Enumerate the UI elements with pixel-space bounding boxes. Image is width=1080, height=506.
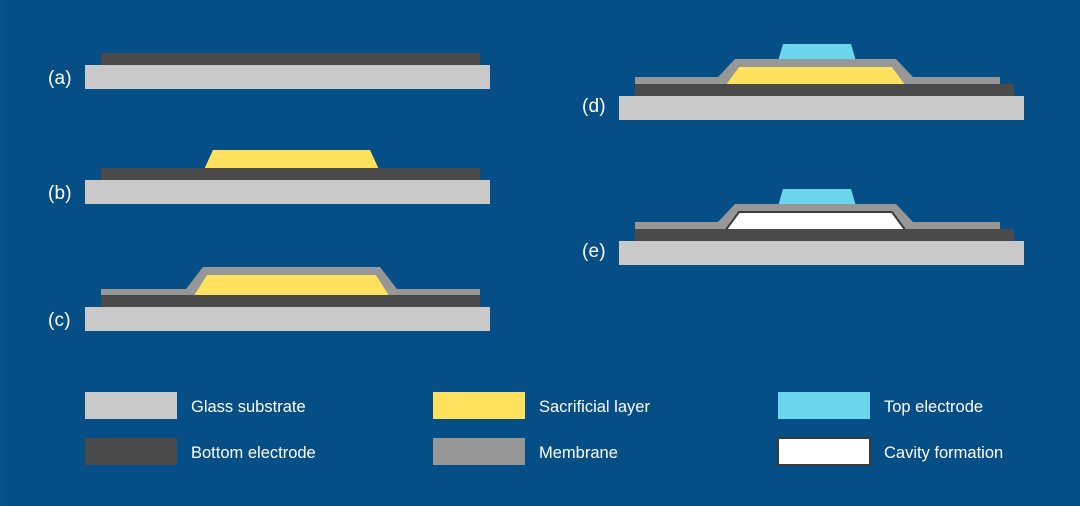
panel-a: (a) [48,53,490,89]
panel-d-label: (d) [582,96,606,117]
legend-swatch-bottom-electrode [85,438,177,465]
legend-label-top-electrode: Top electrode [884,398,983,416]
legend: Glass substrate Bottom electrode Sacrifi… [85,392,1003,465]
panel-d-sacrificial-layer [725,67,906,86]
legend-item-bottom-electrode: Bottom electrode [85,438,316,465]
legend-label-sacrificial-layer: Sacrificial layer [539,398,650,416]
panel-d: (d) [582,44,1024,120]
panel-e-bottom-electrode [635,229,1014,241]
legend-label-cavity-formation: Cavity formation [884,444,1003,462]
panel-e: (e) [582,189,1024,265]
legend-item-sacrificial-layer: Sacrificial layer [433,392,650,419]
legend-item-glass-substrate: Glass substrate [85,392,306,419]
panel-e-glass-substrate [619,241,1024,265]
fabrication-process-diagram: (a) (b) (c) (d) [0,0,1080,506]
legend-label-bottom-electrode: Bottom electrode [191,444,316,462]
panel-a-bottom-electrode [101,53,480,65]
panel-c: (c) [48,267,490,331]
panel-d-glass-substrate [619,96,1024,120]
legend-item-cavity-formation: Cavity formation [778,438,1003,465]
legend-item-membrane: Membrane [433,438,618,465]
legend-swatch-cavity-formation [778,438,870,465]
panel-a-glass-substrate [85,65,490,89]
panel-b-glass-substrate [85,180,490,204]
panel-c-sacrificial-layer [193,275,390,297]
legend-label-membrane: Membrane [539,444,618,462]
panel-e-cavity-formation [725,212,906,231]
panel-b-bottom-electrode [101,168,480,180]
legend-label-glass-substrate: Glass substrate [191,398,306,416]
panel-d-bottom-electrode [635,84,1014,96]
legend-swatch-top-electrode [778,392,870,419]
legend-swatch-glass-substrate [85,392,177,419]
panel-c-bottom-electrode [101,295,480,307]
panel-c-label: (c) [48,310,71,331]
panel-b-label: (b) [48,183,72,204]
legend-swatch-membrane [433,438,525,465]
panel-a-label: (a) [48,68,72,89]
legend-swatch-sacrificial-layer [433,392,525,419]
panel-b: (b) [48,150,490,204]
panel-e-label: (e) [582,241,606,262]
legend-item-top-electrode: Top electrode [778,392,983,419]
panel-c-glass-substrate [85,307,490,331]
